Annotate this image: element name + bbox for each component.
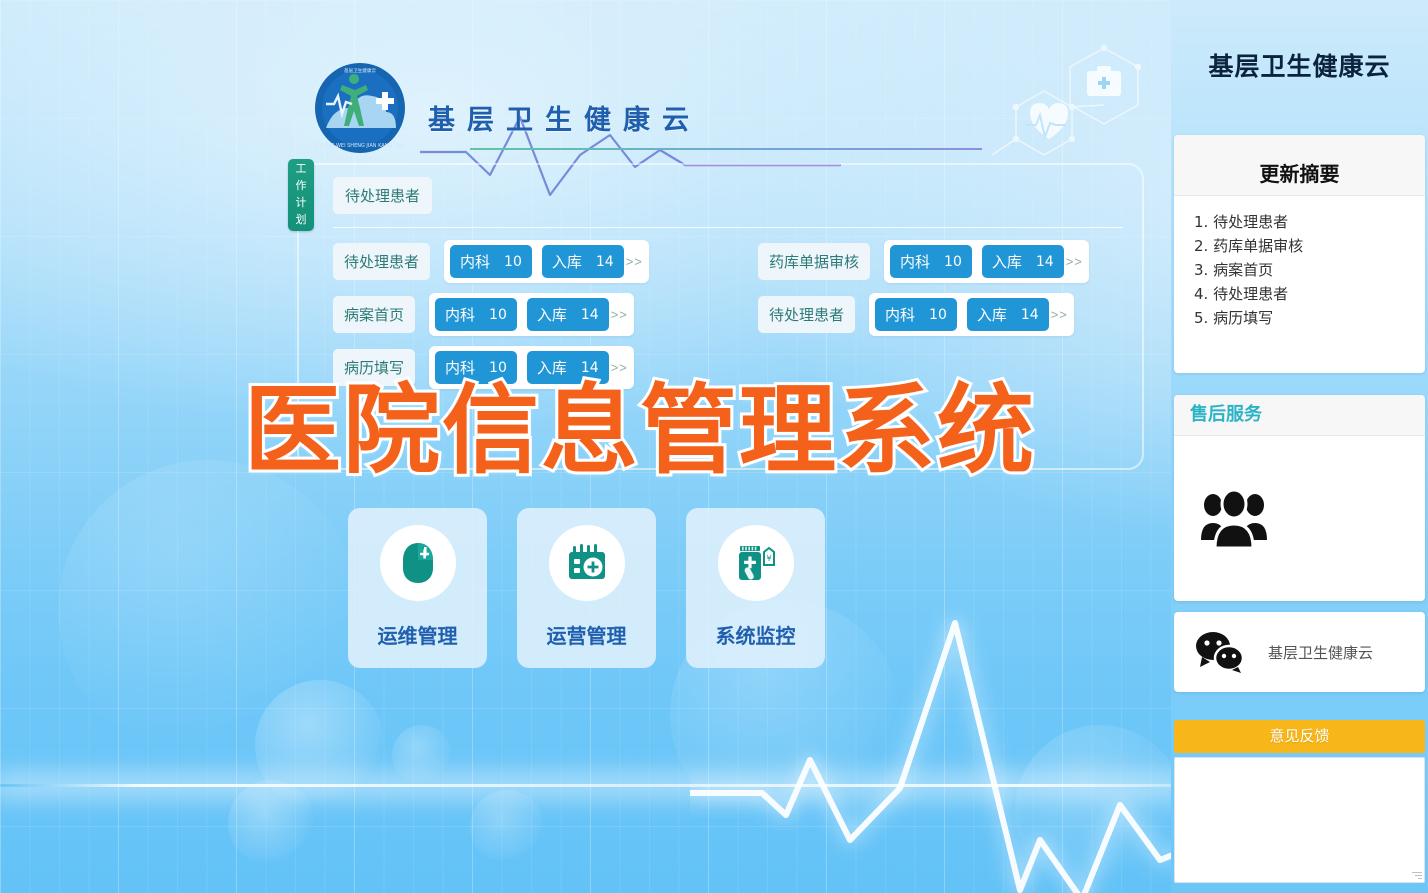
work-plan-tab-char: 计 bbox=[288, 194, 314, 211]
table-row[interactable]: 药库单据审核 内科 10 入库 14 >> bbox=[758, 240, 1133, 283]
card-system-monitor[interactable]: ¥ 系统监控 bbox=[686, 508, 825, 668]
work-area: 待处理患者 待处理患者 内科 10 入库 14 bbox=[318, 168, 1130, 368]
dept-label: 内科 bbox=[445, 304, 475, 325]
card-label: 系统监控 bbox=[716, 620, 796, 649]
list-item[interactable]: 2. 药库单据审核 bbox=[1194, 234, 1425, 258]
dept-count: 10 bbox=[944, 254, 962, 270]
dept-count: 10 bbox=[929, 307, 947, 323]
list-item[interactable]: 5. 病历填写 bbox=[1194, 306, 1425, 330]
row-pills: 内科 10 入库 14 >> bbox=[429, 293, 634, 336]
wechat-body: 基层卫生健康云 bbox=[1174, 612, 1425, 692]
more-arrow-icon[interactable]: >> bbox=[597, 360, 628, 375]
svg-text:¥: ¥ bbox=[766, 554, 771, 563]
wechat-icon[interactable] bbox=[1194, 631, 1246, 673]
work-area-divider bbox=[333, 227, 1123, 228]
medicine-bottle-icon: ¥ bbox=[733, 540, 779, 586]
list-item[interactable]: 1. 待处理患者 bbox=[1194, 210, 1425, 234]
table-row[interactable]: 待处理患者 内科 10 入库 14 >> bbox=[758, 293, 1133, 336]
row-label[interactable]: 病案首页 bbox=[333, 296, 415, 333]
after-sales-service-panel: 售后服务 bbox=[1174, 395, 1425, 601]
work-plan-tab[interactable]: 工 作 计 划 bbox=[288, 159, 314, 231]
row-label[interactable]: 待处理患者 bbox=[333, 243, 430, 280]
brand-underline bbox=[470, 148, 982, 150]
work-plan-tab-char: 工 bbox=[288, 160, 314, 177]
work-row-pair: 待处理患者 内科 10 入库 14 >> bbox=[333, 240, 1133, 293]
after-sales-heading: 售后服务 bbox=[1174, 395, 1425, 436]
jiceng-health-cloud-logo: 基层卫生健康云 JI CENG WEI SHENG JIAN KANG YUN bbox=[314, 62, 406, 154]
sidebar-title: 基层卫生健康云 bbox=[1171, 47, 1428, 83]
page-title: 医院信息管理系统 bbox=[200, 381, 1080, 481]
card-label: 运维管理 bbox=[378, 620, 458, 649]
dept-pill[interactable]: 内科 10 bbox=[875, 298, 957, 331]
work-row-pair: 病案首页 内科 10 入库 14 >> bbox=[333, 293, 1133, 346]
update-summary-panel: 更新摘要 1. 待处理患者 2. 药库单据审核 3. 病案首页 4. 待处理患者… bbox=[1174, 135, 1425, 373]
row-label[interactable]: 待处理患者 bbox=[758, 296, 855, 333]
more-arrow-icon[interactable]: >> bbox=[1052, 254, 1083, 269]
card-label: 运营管理 bbox=[547, 620, 627, 649]
dept-label: 内科 bbox=[460, 251, 490, 272]
stock-label: 入库 bbox=[552, 251, 582, 272]
update-summary-list: 1. 待处理患者 2. 药库单据审核 3. 病案首页 4. 待处理患者 5. 病… bbox=[1174, 196, 1425, 330]
stock-label: 入库 bbox=[537, 304, 567, 325]
dept-label: 内科 bbox=[885, 304, 915, 325]
feature-cards: 运维管理 运营管理 bbox=[348, 508, 825, 668]
work-col-right: 待处理患者 内科 10 入库 14 >> bbox=[758, 293, 1133, 346]
stock-label: 入库 bbox=[992, 251, 1022, 272]
pending-patients-chip[interactable]: 待处理患者 bbox=[333, 177, 432, 214]
wechat-panel: 基层卫生健康云 bbox=[1174, 612, 1425, 692]
table-row[interactable]: 病案首页 内科 10 入库 14 >> bbox=[333, 293, 758, 336]
card-icon-wrap: ¥ bbox=[718, 525, 794, 601]
card-operations[interactable]: 运营管理 bbox=[517, 508, 656, 668]
card-icon-wrap bbox=[549, 525, 625, 601]
work-plan-tab-char: 划 bbox=[288, 211, 314, 228]
work-col-left: 待处理患者 内科 10 入库 14 >> bbox=[333, 240, 758, 293]
card-ops-maintenance[interactable]: 运维管理 bbox=[348, 508, 487, 668]
row-pills: 内科 10 入库 14 >> bbox=[444, 240, 649, 283]
list-item[interactable]: 4. 待处理患者 bbox=[1194, 282, 1425, 306]
right-sidebar: 基层卫生健康云 更新摘要 1. 待处理患者 2. 药库单据审核 3. 病案首页 … bbox=[1171, 0, 1428, 893]
work-col-left: 病案首页 内科 10 入库 14 >> bbox=[333, 293, 758, 346]
dept-pill[interactable]: 内科 10 bbox=[450, 245, 532, 278]
more-arrow-icon[interactable]: >> bbox=[612, 254, 643, 269]
dept-count: 10 bbox=[489, 307, 507, 323]
svg-text:基层卫生健康云: 基层卫生健康云 bbox=[344, 67, 377, 74]
dept-pill[interactable]: 内科 10 bbox=[890, 245, 972, 278]
mouse-plus-icon bbox=[395, 540, 441, 586]
row-pills: 内科 10 入库 14 >> bbox=[869, 293, 1074, 336]
work-col-right: 药库单据审核 内科 10 入库 14 >> bbox=[758, 240, 1133, 293]
after-sales-body bbox=[1174, 436, 1425, 601]
feedback-button[interactable]: 意见反馈 bbox=[1174, 720, 1425, 753]
work-plan-tab-char: 作 bbox=[288, 177, 314, 194]
row-pills: 内科 10 入库 14 >> bbox=[884, 240, 1089, 283]
feedback-textarea[interactable] bbox=[1174, 757, 1425, 883]
brand-title: 基层卫生健康云 bbox=[428, 98, 701, 137]
update-summary-heading: 更新摘要 bbox=[1174, 135, 1425, 196]
dept-pill[interactable]: 内科 10 bbox=[435, 298, 517, 331]
card-icon-wrap bbox=[380, 525, 456, 601]
more-arrow-icon[interactable]: >> bbox=[1037, 307, 1068, 322]
table-row[interactable]: 待处理患者 内科 10 入库 14 >> bbox=[333, 240, 758, 283]
dept-label: 内科 bbox=[900, 251, 930, 272]
app-root: 基层卫生健康云 JI CENG WEI SHENG JIAN KANG YUN … bbox=[0, 0, 1428, 893]
calendar-plus-icon bbox=[564, 540, 610, 586]
svg-text:JI CENG WEI SHENG JIAN KANG YU: JI CENG WEI SHENG JIAN KANG YUN bbox=[315, 143, 405, 149]
group-users-icon[interactable] bbox=[1199, 488, 1271, 550]
row-label[interactable]: 药库单据审核 bbox=[758, 243, 870, 280]
resize-handle-icon[interactable] bbox=[1412, 870, 1422, 880]
list-item[interactable]: 3. 病案首页 bbox=[1194, 258, 1425, 282]
more-arrow-icon[interactable]: >> bbox=[597, 307, 628, 322]
stock-label: 入库 bbox=[977, 304, 1007, 325]
dept-count: 10 bbox=[504, 254, 522, 270]
wechat-label: 基层卫生健康云 bbox=[1268, 642, 1373, 663]
